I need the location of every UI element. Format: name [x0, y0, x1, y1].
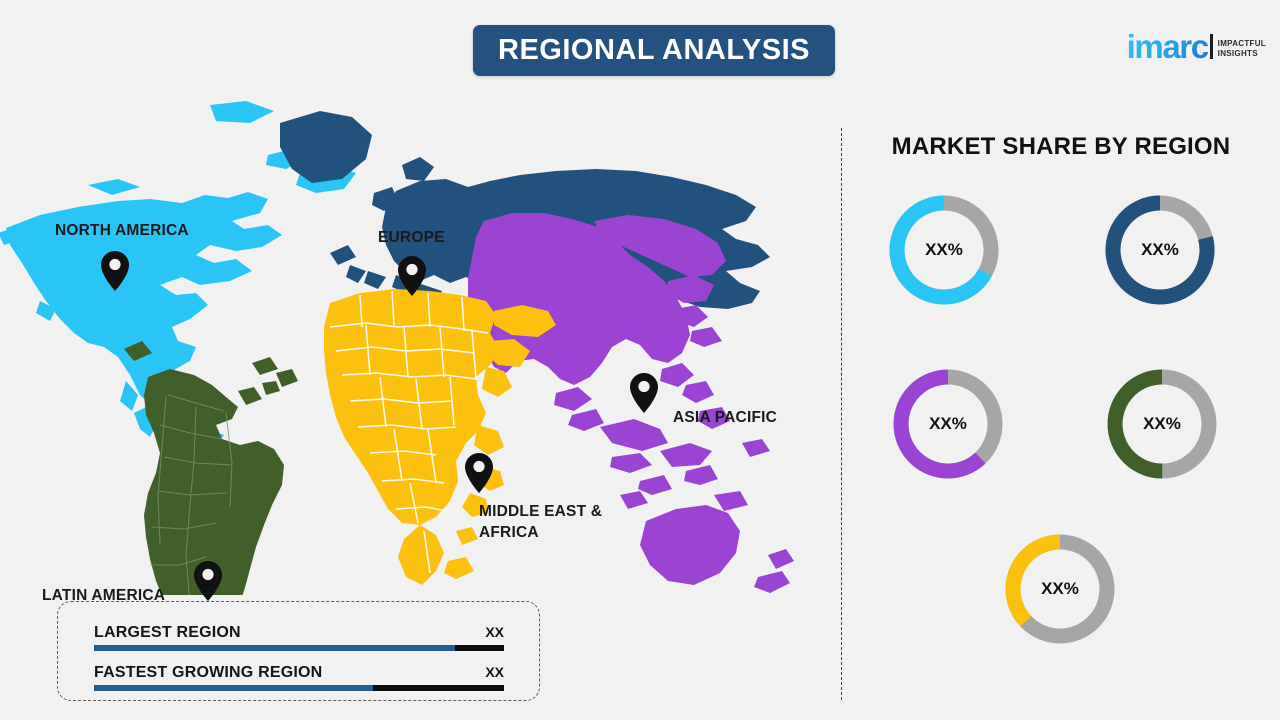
logo-tagline-line1: IMPACTFUL — [1218, 39, 1266, 49]
metric-label: LARGEST REGION — [94, 624, 241, 642]
imarc-logo: imarc IMPACTFUL INSIGHTS — [1127, 20, 1266, 62]
panel-divider — [841, 128, 842, 700]
region-label-north-america: NORTH AMERICA — [55, 221, 189, 242]
page-title: REGIONAL ANALYSIS — [498, 34, 810, 67]
infographic-canvas: REGIONAL ANALYSIS imarc IMPACTFUL INSIGH… — [0, 0, 1280, 720]
metric-progress-fill — [94, 685, 373, 691]
key-metrics-box: LARGEST REGION XX FASTEST GROWING REGION… — [57, 601, 540, 701]
map-pin-icon — [630, 373, 658, 413]
metric-label: FASTEST GROWING REGION — [94, 664, 322, 682]
logo-tagline-line2: INSIGHTS — [1218, 49, 1266, 59]
map-region-latin-america — [124, 341, 298, 595]
region-label-europe: EUROPE — [378, 228, 445, 249]
map-region-greenland — [280, 111, 372, 183]
donut-chart-asia-pacific: XX% — [888, 364, 1008, 484]
metric-row-largest-region: LARGEST REGION XX — [94, 624, 504, 651]
world-map: NORTH AMERICA EUROPE ASIA PACIFIC MIDDLE… — [0, 95, 820, 595]
metric-progress-bar — [94, 645, 504, 651]
metric-value: XX — [485, 624, 504, 640]
map-pin-icon — [194, 561, 222, 601]
logo-wordmark: imarc — [1127, 31, 1208, 62]
market-share-title: MARKET SHARE BY REGION — [861, 133, 1261, 161]
page-title-banner: REGIONAL ANALYSIS — [473, 25, 835, 76]
region-label-middle-east-africa: MIDDLE EAST & AFRICA — [479, 502, 602, 544]
donut-chart-north-america: XX% — [884, 190, 1004, 310]
map-pin-icon — [101, 251, 129, 291]
logo-divider-bar — [1210, 34, 1213, 59]
metric-progress-fill — [94, 645, 455, 651]
metric-row-fastest-growing-region: FASTEST GROWING REGION XX — [94, 664, 504, 691]
map-pin-icon — [465, 453, 493, 493]
donut-chart-europe: XX% — [1100, 190, 1220, 310]
donut-chart-middle-east-africa: XX% — [1000, 529, 1120, 649]
logo-tagline: IMPACTFUL INSIGHTS — [1218, 39, 1266, 59]
region-label-asia-pacific: ASIA PACIFIC — [673, 408, 777, 429]
donut-chart-latin-america: XX% — [1102, 364, 1222, 484]
map-pin-icon — [398, 256, 426, 296]
metric-progress-bar — [94, 685, 504, 691]
metric-value: XX — [485, 664, 504, 680]
